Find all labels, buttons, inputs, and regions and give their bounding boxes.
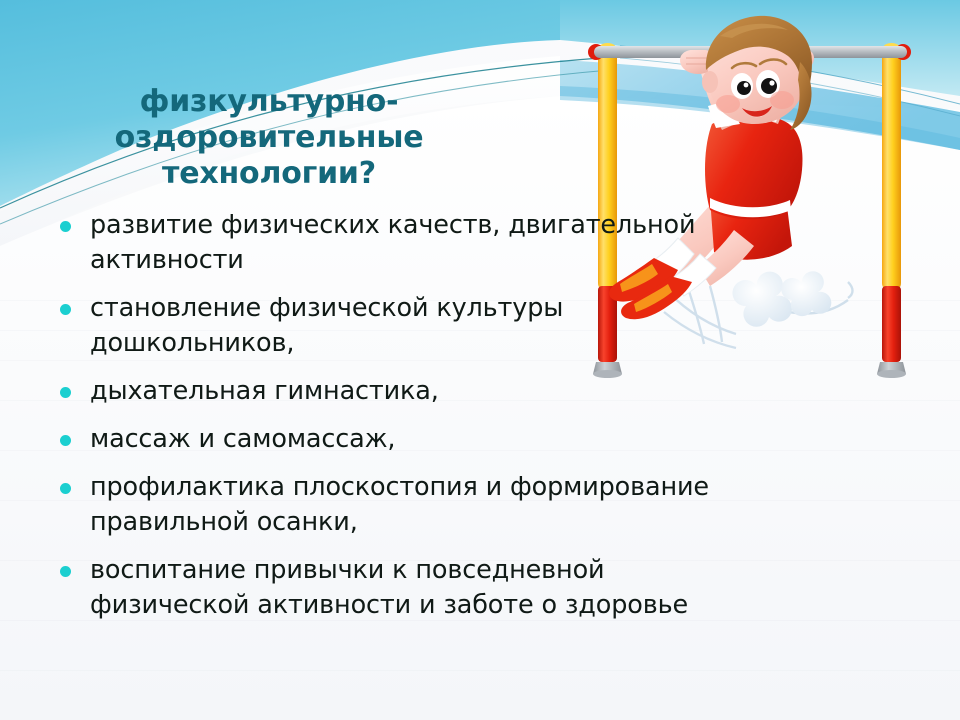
list-item: воспитание привычки к повседневной физич… xyxy=(48,553,920,623)
list-item-line: профилактика плоскостопия и формирование xyxy=(90,470,920,505)
list-item: профилактика плоскостопия и формирование… xyxy=(48,470,920,540)
list-item-line: массаж и самомассаж, xyxy=(90,422,920,457)
page-title: физкультурно- оздоровительные технологии… xyxy=(34,84,504,192)
list-item-text: воспитание привычки к повседневной физич… xyxy=(90,553,920,623)
title-line-2: оздоровительные xyxy=(34,120,504,156)
list-item: развитие физических качеств, двигательно… xyxy=(48,208,920,278)
list-item-line: физической активности и заботе о здоровь… xyxy=(90,588,920,623)
slide: физкультурно- оздоровительные технологии… xyxy=(0,0,960,720)
list-item-line: становление физической культуры xyxy=(90,291,920,326)
list-item-line: развитие физических качеств, двигательно… xyxy=(90,208,920,243)
list-item-text: становление физической культуры дошкольн… xyxy=(90,291,920,361)
title-line-1: физкультурно- xyxy=(34,84,504,120)
list-item-text: развитие физических качеств, двигательно… xyxy=(90,208,920,278)
list-item-line: активности xyxy=(90,243,920,278)
list-item: массаж и самомассаж, xyxy=(48,422,920,457)
list-item-line: дошкольников, xyxy=(90,326,920,361)
bullet-dot-icon xyxy=(60,304,71,315)
bullet-dot-icon xyxy=(60,483,71,494)
bullet-dot-icon xyxy=(60,435,71,446)
list-item: становление физической культуры дошкольн… xyxy=(48,291,920,361)
list-item-line: дыхательная гимнастика, xyxy=(90,374,920,409)
list-item-line: правильной осанки, xyxy=(90,505,920,540)
list-item-line: воспитание привычки к повседневной xyxy=(90,553,920,588)
bullet-dot-icon xyxy=(60,387,71,398)
list-item: дыхательная гимнастика, xyxy=(48,374,920,409)
bullet-list: развитие физических качеств, двигательно… xyxy=(48,208,920,623)
title-line-3: технологии? xyxy=(34,156,504,192)
list-item-text: профилактика плоскостопия и формирование… xyxy=(90,470,920,540)
bullet-dot-icon xyxy=(60,566,71,577)
bullet-dot-icon xyxy=(60,221,71,232)
list-item-text: массаж и самомассаж, xyxy=(90,422,920,457)
list-item-text: дыхательная гимнастика, xyxy=(90,374,920,409)
